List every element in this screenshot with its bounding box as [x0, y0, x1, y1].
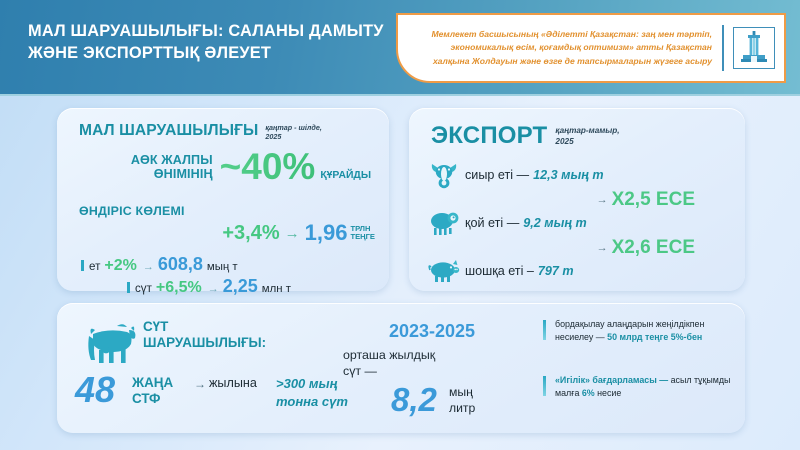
arrow-right-icon: → — [597, 242, 608, 254]
sheep-icon-glyph — [428, 209, 460, 237]
sheep-icon — [423, 206, 465, 240]
export-item-name: қой еті — — [465, 216, 519, 230]
meat-value: 608,8 — [158, 254, 203, 275]
milk-name: сүт — [135, 282, 152, 295]
monument-icon-glyph — [739, 30, 769, 64]
export-card: ЭКСПОРТ қаңтар-мамыр, 2025 сиыр еті — 12… — [409, 108, 745, 291]
meat-percent: +2% — [104, 257, 136, 275]
dairy-note-igilik-lead: «Игілік» бағдарламасы — — [555, 375, 668, 385]
dairy-average-value: 8,2 — [391, 381, 437, 419]
livestock-share-value: ~40% — [220, 146, 316, 188]
page-title: МАЛ ШАРУАШЫЛЫҒЫ: САЛАНЫ ДАМЫТУ ЖӘНЕ ЭКСП… — [28, 21, 388, 64]
livestock-share-suffix: ҚҰРАЙДЫ — [320, 170, 371, 181]
emblem — [724, 13, 784, 83]
dairy-note-igilik-tail: несие — [595, 388, 622, 398]
dairy-note-igilik: «Игілік» бағдарламасы — асыл тұқымды мал… — [543, 374, 743, 400]
arrow-right-icon: → — [285, 225, 300, 242]
dairy-years-range: 2023-2025 — [347, 321, 517, 342]
meat-unit: мың т — [207, 261, 238, 273]
dairy-farms-label: ЖАҢА СТФ — [132, 375, 173, 407]
milk-row: сүт +6,5% → 2,25 млн т — [127, 276, 291, 297]
production-row: +3,4% → 1,96 ТРЛН ТЕҢГЕ — [79, 220, 375, 246]
presidential-address-banner: Мемлекет басшысының «Әділетті Қазақстан:… — [396, 13, 786, 83]
accent-bar — [81, 260, 84, 271]
dairy-title: СҮТ ШАРУАШЫЛЫҒЫ: — [143, 319, 266, 352]
livestock-period: қаңтар - шілде, 2025 — [265, 123, 321, 141]
export-item-pork: шошқа еті – 797 т — [423, 254, 731, 288]
production-unit: ТРЛН ТЕҢГЕ — [350, 225, 375, 241]
cow-icon-glyph — [77, 320, 139, 366]
livestock-share-row: АӨК ЖАЛПЫ ӨНІМІНІҢ ~40% ҚҰРАЙДЫ — [79, 146, 371, 188]
milk-percent: +6,5% — [156, 279, 202, 297]
cow-head-icon — [423, 158, 465, 192]
dairy-average-unit: мың литр — [449, 385, 475, 416]
meat-row: ет +2% → 608,8 мың т — [81, 254, 238, 275]
export-item-value: 9,2 мың т — [523, 216, 586, 230]
dairy-average-label: орташа жылдық сүт — — [343, 347, 523, 380]
dairy-per-year-label: жылына — [209, 376, 257, 390]
export-header: ЭКСПОРТ қаңтар-мамыр, 2025 — [431, 122, 620, 150]
pig-icon-glyph — [428, 258, 460, 284]
export-item-value: 797 т — [538, 264, 574, 278]
cow-icon — [77, 320, 139, 371]
export-item-line: сиыр еті — 12,3 мың т — [423, 158, 731, 192]
pig-icon — [423, 254, 465, 288]
dairy-farms-count: 48 — [75, 369, 115, 411]
export-item-name: шошқа еті – — [465, 264, 534, 278]
page-header: МАЛ ШАРУАШЫЛЫҒЫ: САЛАНЫ ДАМЫТУ ЖӘНЕ ЭКСП… — [0, 0, 800, 96]
export-item-mutton: қой еті — 9,2 мың т → X2,6 ЕСЕ — [423, 206, 731, 259]
export-period: қаңтар-мамыр, 2025 — [555, 126, 619, 147]
livestock-share-label: АӨК ЖАЛПЫ ӨНІМІНІҢ — [131, 153, 213, 182]
export-item-line: қой еті — 9,2 мың т — [423, 206, 731, 240]
dairy-note-feedlot-accent: 50 млрд теңге 5%-бен — [607, 332, 702, 342]
livestock-card: МАЛ ШАРУАШЫЛЫҒЫ қаңтар - шілде, 2025 АӨК… — [57, 108, 389, 291]
production-percent: +3,4% — [222, 222, 279, 245]
banner-text: Мемлекет басшысының «Әділетті Қазақстан:… — [398, 28, 722, 68]
dairy-farms-volume: >300 мың тонна сүт — [276, 375, 348, 412]
meat-name: ет — [89, 260, 100, 273]
accent-bar — [127, 282, 130, 293]
dairy-card: СҮТ ШАРУАШЫЛЫҒЫ: 48 ЖАҢА СТФ → жылына >3… — [57, 303, 745, 433]
export-title: ЭКСПОРТ — [431, 122, 547, 150]
export-item-value: 12,3 мың т — [533, 168, 603, 182]
milk-unit: млн т — [262, 283, 291, 295]
export-item-beef: сиыр еті — 12,3 мың т → X2,5 ЕСЕ — [423, 158, 731, 211]
arrow-right-icon: → — [208, 283, 219, 295]
dairy-note-feedlot: бордақылау алаңдарын жеңілдікпен несиеле… — [543, 318, 743, 344]
cow-head-icon-glyph — [429, 161, 459, 189]
dairy-note-igilik-accent: 6% — [582, 388, 595, 398]
production-value: 1,96 — [305, 220, 348, 246]
livestock-title: МАЛ ШАРУАШЫЛЫҒЫ — [79, 122, 258, 140]
export-item-name: сиыр еті — — [465, 168, 529, 182]
production-label: ӨНДІРІС КӨЛЕМІ — [79, 204, 185, 218]
milk-value: 2,25 — [223, 276, 258, 297]
monument-icon — [733, 27, 775, 69]
arrow-right-icon: → — [143, 261, 154, 273]
livestock-header: МАЛ ШАРУАШЫЛЫҒЫ қаңтар - шілде, 2025 — [79, 122, 322, 141]
export-item-line: шошқа еті – 797 т — [423, 254, 731, 288]
arrow-right-icon: → — [194, 377, 206, 391]
arrow-right-icon: → — [597, 194, 608, 206]
